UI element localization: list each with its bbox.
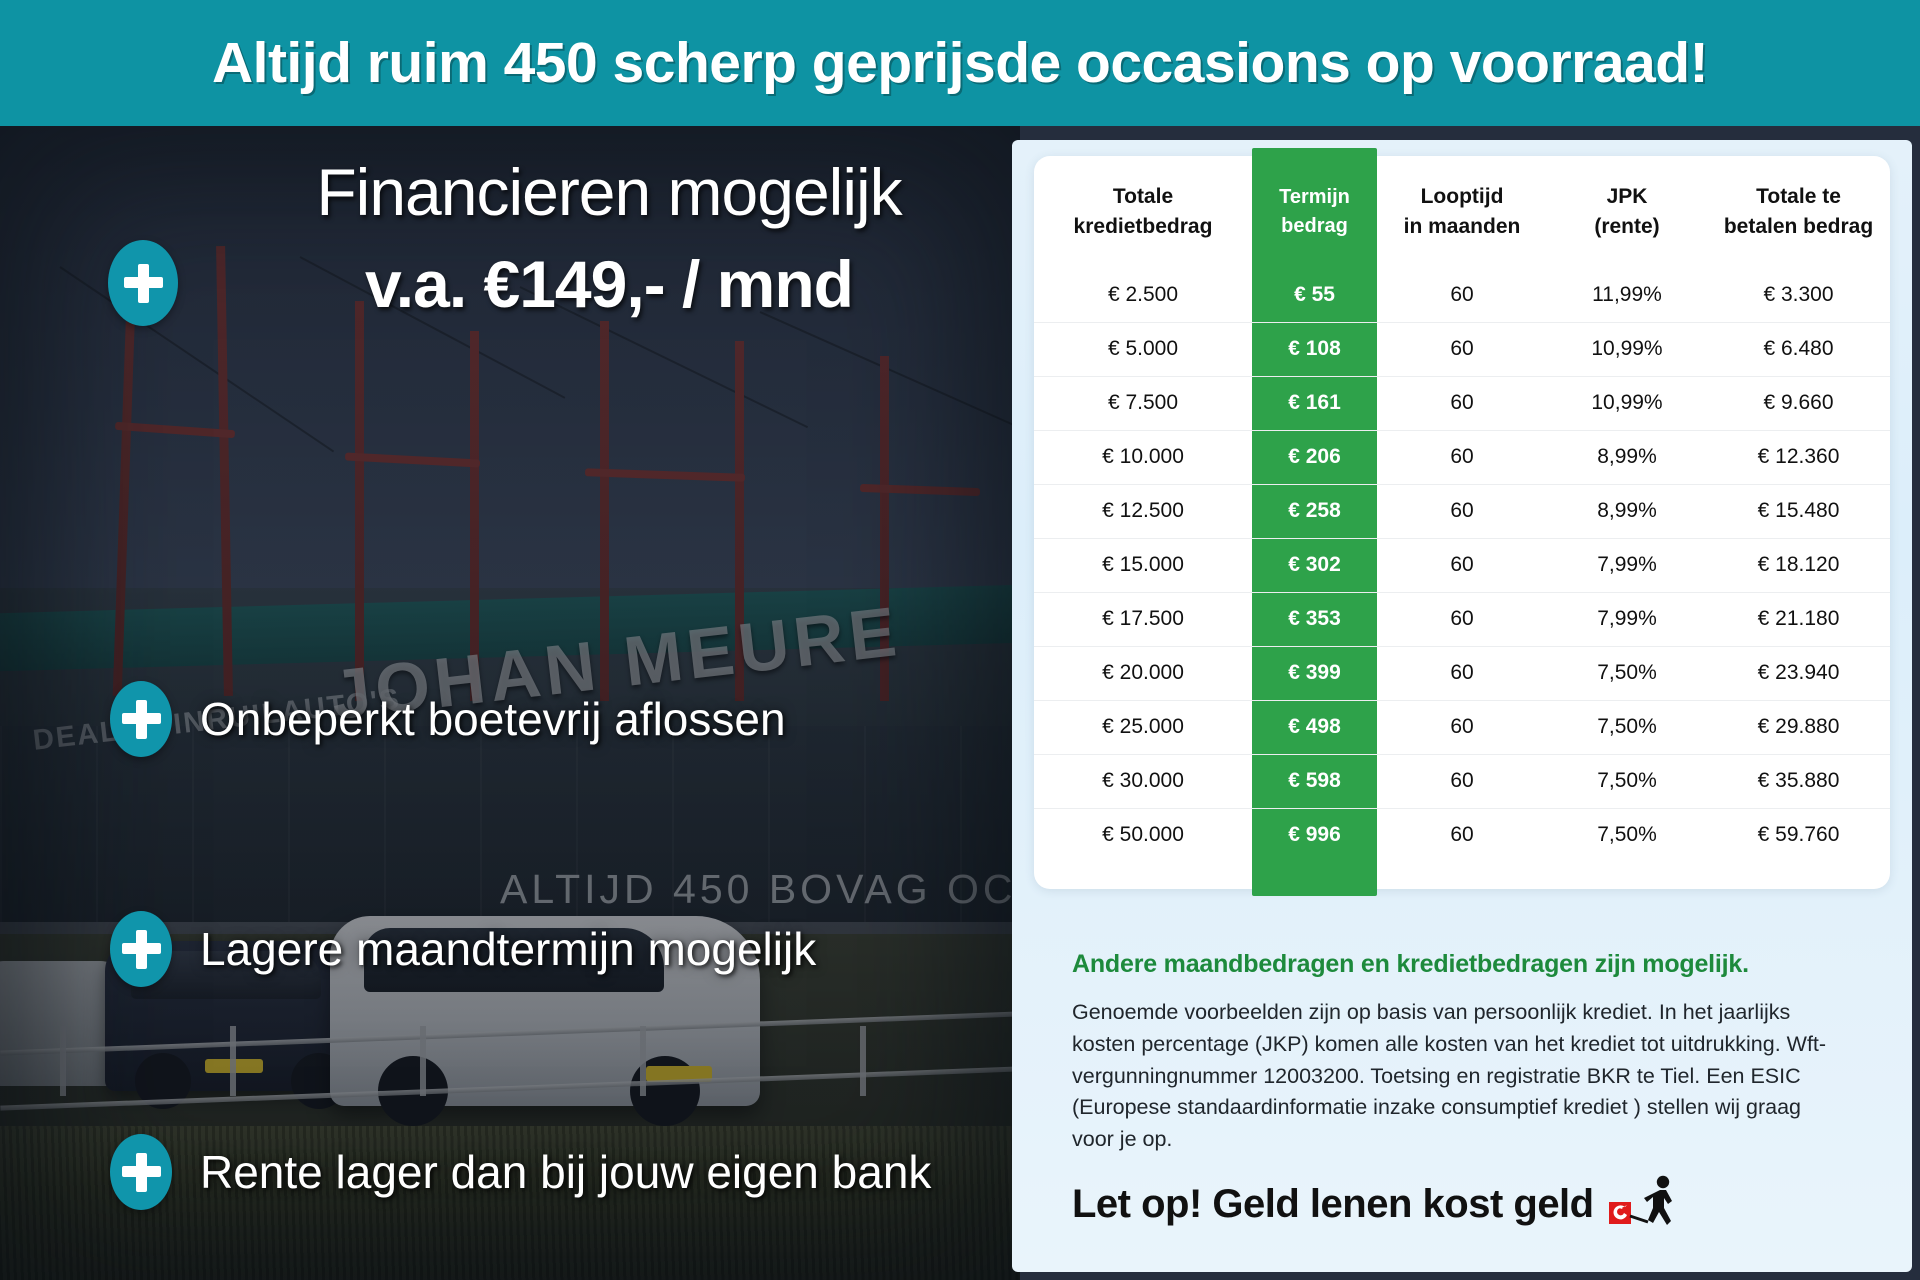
cell-jpk: 7,50% xyxy=(1547,700,1707,754)
hero-line-2: v.a. €149,- / mnd xyxy=(214,246,1004,322)
cell-totaalbedrag: € 15.480 xyxy=(1707,484,1890,538)
cell-jpk: 10,99% xyxy=(1547,376,1707,430)
col-header-line-2: bedrag xyxy=(1281,215,1348,237)
cell-termijnbedrag: € 55 xyxy=(1252,268,1377,322)
col-header-line-2: (rente) xyxy=(1594,215,1659,238)
table-row: € 2.500€ 556011,99%€ 3.300 xyxy=(1034,268,1890,322)
cell-totaalbedrag: € 12.360 xyxy=(1707,430,1890,484)
cell-kredietbedrag: € 50.000 xyxy=(1034,808,1252,862)
plus-icon xyxy=(110,1134,172,1210)
feature-label: Onbeperkt boetevrij aflossen xyxy=(200,692,786,746)
financing-table: Totale kredietbedrag Termijn bedrag Loop… xyxy=(1034,156,1890,862)
disclaimer-title: Andere maandbedragen en kredietbedragen … xyxy=(1072,950,1832,979)
feature-list: Financieren mogelijk v.a. €149,- / mnd O… xyxy=(0,126,1020,1280)
plus-icon xyxy=(108,240,178,326)
cell-jpk: 7,50% xyxy=(1547,808,1707,862)
table-header-row: Totale kredietbedrag Termijn bedrag Loop… xyxy=(1034,156,1890,268)
cell-termijnbedrag: € 258 xyxy=(1252,484,1377,538)
cell-jpk: 10,99% xyxy=(1547,322,1707,376)
hero-line-1: Financieren mogelijk xyxy=(214,154,1004,230)
disclaimer-body: Genoemde voorbeelden zijn op basis van p… xyxy=(1072,997,1832,1156)
cell-kredietbedrag: € 20.000 xyxy=(1034,646,1252,700)
table-row: € 5.000€ 1086010,99%€ 6.480 xyxy=(1034,322,1890,376)
table-row: € 12.500€ 258608,99%€ 15.480 xyxy=(1034,484,1890,538)
cell-totaalbedrag: € 35.880 xyxy=(1707,754,1890,808)
credit-warning: Let op! Geld lenen kost geld xyxy=(1072,1175,1682,1233)
cell-termijnbedrag: € 108 xyxy=(1252,322,1377,376)
cell-kredietbedrag: € 12.500 xyxy=(1034,484,1252,538)
disclaimer-block: Andere maandbedragen en kredietbedragen … xyxy=(1072,950,1832,1156)
feature-item-aflossen: Onbeperkt boetevrij aflossen xyxy=(110,681,786,757)
hero-text-block: Financieren mogelijk v.a. €149,- / mnd xyxy=(214,154,1004,322)
cell-termijnbedrag: € 598 xyxy=(1252,754,1377,808)
cell-looptijd: 60 xyxy=(1377,538,1547,592)
financing-panel: Totale kredietbedrag Termijn bedrag Loop… xyxy=(1012,140,1912,1272)
financing-table-card: Totale kredietbedrag Termijn bedrag Loop… xyxy=(1034,156,1890,889)
table-row: € 15.000€ 302607,99%€ 18.120 xyxy=(1034,538,1890,592)
cell-looptijd: 60 xyxy=(1377,268,1547,322)
cell-jpk: 8,99% xyxy=(1547,430,1707,484)
cell-totaalbedrag: € 23.940 xyxy=(1707,646,1890,700)
plus-icon xyxy=(110,911,172,987)
plus-glyph xyxy=(123,263,163,303)
cell-looptijd: 60 xyxy=(1377,808,1547,862)
cell-jpk: 7,50% xyxy=(1547,754,1707,808)
feature-label: Lagere maandtermijn mogelijk xyxy=(200,922,816,976)
table-body: € 2.500€ 556011,99%€ 3.300€ 5.000€ 10860… xyxy=(1034,268,1890,862)
cell-kredietbedrag: € 15.000 xyxy=(1034,538,1252,592)
cell-kredietbedrag: € 30.000 xyxy=(1034,754,1252,808)
table-row: € 20.000€ 399607,50%€ 23.940 xyxy=(1034,646,1890,700)
col-header-line-1: Totale te xyxy=(1756,185,1841,208)
cell-looptijd: 60 xyxy=(1377,376,1547,430)
top-banner: Altijd ruim 450 scherp geprijsde occasio… xyxy=(0,0,1920,126)
cell-kredietbedrag: € 25.000 xyxy=(1034,700,1252,754)
plus-glyph xyxy=(121,699,161,739)
cell-termijnbedrag: € 161 xyxy=(1252,376,1377,430)
cell-totaalbedrag: € 29.880 xyxy=(1707,700,1890,754)
table-row: € 25.000€ 498607,50%€ 29.880 xyxy=(1034,700,1890,754)
plus-icon xyxy=(110,681,172,757)
cell-totaalbedrag: € 21.180 xyxy=(1707,592,1890,646)
cell-looptijd: 60 xyxy=(1377,322,1547,376)
cell-kredietbedrag: € 17.500 xyxy=(1034,592,1252,646)
cell-jpk: 11,99% xyxy=(1547,268,1707,322)
col-header-kredietbedrag: Totale kredietbedrag xyxy=(1034,156,1252,268)
col-header-jpk: JPK (rente) xyxy=(1547,156,1707,268)
col-header-line-1: Termijn xyxy=(1279,186,1350,208)
banner-headline: Altijd ruim 450 scherp geprijsde occasio… xyxy=(212,30,1708,96)
cell-jpk: 7,99% xyxy=(1547,538,1707,592)
feature-item-maandtermijn: Lagere maandtermijn mogelijk xyxy=(110,911,816,987)
cell-jpk: 7,50% xyxy=(1547,646,1707,700)
credit-warning-text: Let op! Geld lenen kost geld xyxy=(1072,1182,1594,1227)
cell-termijnbedrag: € 302 xyxy=(1252,538,1377,592)
table-row: € 30.000€ 598607,50%€ 35.880 xyxy=(1034,754,1890,808)
cell-jpk: 8,99% xyxy=(1547,484,1707,538)
walking-person-debt-icon xyxy=(1608,1175,1682,1233)
cell-looptijd: 60 xyxy=(1377,754,1547,808)
cell-totaalbedrag: € 9.660 xyxy=(1707,376,1890,430)
plus-glyph xyxy=(121,929,161,969)
feature-label: Rente lager dan bij jouw eigen bank xyxy=(200,1145,931,1199)
cell-jpk: 7,99% xyxy=(1547,592,1707,646)
table-row: € 7.500€ 1616010,99%€ 9.660 xyxy=(1034,376,1890,430)
feature-item-rente: Rente lager dan bij jouw eigen bank xyxy=(110,1134,931,1210)
col-header-line-2: in maanden xyxy=(1404,215,1521,238)
col-header-line-1: Looptijd xyxy=(1421,185,1504,208)
cell-looptijd: 60 xyxy=(1377,646,1547,700)
cell-looptijd: 60 xyxy=(1377,484,1547,538)
cell-totaalbedrag: € 3.300 xyxy=(1707,268,1890,322)
cell-termijnbedrag: € 206 xyxy=(1252,430,1377,484)
col-header-termijnbedrag: Termijn bedrag xyxy=(1252,156,1377,268)
table-row: € 17.500€ 353607,99%€ 21.180 xyxy=(1034,592,1890,646)
table-header: Totale kredietbedrag Termijn bedrag Loop… xyxy=(1034,156,1890,268)
col-header-line-1: JPK xyxy=(1607,185,1648,208)
cell-totaalbedrag: € 59.760 xyxy=(1707,808,1890,862)
cell-kredietbedrag: € 10.000 xyxy=(1034,430,1252,484)
plus-glyph xyxy=(121,1152,161,1192)
advertisement-canvas: Altijd ruim 450 scherp geprijsde occasio… xyxy=(0,0,1920,1280)
table-row: € 50.000€ 996607,50%€ 59.760 xyxy=(1034,808,1890,862)
cell-termijnbedrag: € 399 xyxy=(1252,646,1377,700)
cell-looptijd: 60 xyxy=(1377,430,1547,484)
cell-termijnbedrag: € 353 xyxy=(1252,592,1377,646)
col-header-totaal: Totale te betalen bedrag xyxy=(1707,156,1890,268)
cell-looptijd: 60 xyxy=(1377,592,1547,646)
col-header-line-2: kredietbedrag xyxy=(1074,215,1213,238)
cell-totaalbedrag: € 6.480 xyxy=(1707,322,1890,376)
hero-plus-badge xyxy=(108,240,178,326)
cell-kredietbedrag: € 2.500 xyxy=(1034,268,1252,322)
table-row: € 10.000€ 206608,99%€ 12.360 xyxy=(1034,430,1890,484)
col-header-line-1: Totale xyxy=(1113,185,1173,208)
col-header-line-2: betalen bedrag xyxy=(1724,215,1873,238)
col-header-looptijd: Looptijd in maanden xyxy=(1377,156,1547,268)
cell-looptijd: 60 xyxy=(1377,700,1547,754)
cell-kredietbedrag: € 7.500 xyxy=(1034,376,1252,430)
cell-kredietbedrag: € 5.000 xyxy=(1034,322,1252,376)
cell-totaalbedrag: € 18.120 xyxy=(1707,538,1890,592)
cell-termijnbedrag: € 996 xyxy=(1252,808,1377,862)
cell-termijnbedrag: € 498 xyxy=(1252,700,1377,754)
